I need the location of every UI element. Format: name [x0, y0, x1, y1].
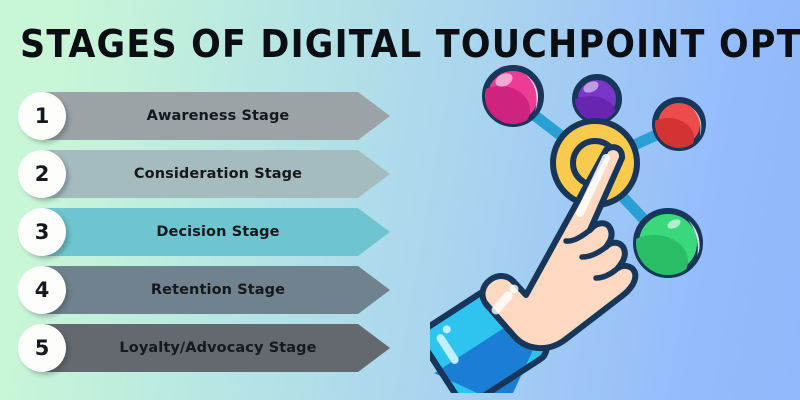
stage-row-4[interactable]: Retention Stage 4 — [18, 266, 390, 314]
hand-tapping-network-node-illustration — [430, 58, 730, 393]
stage-row-5[interactable]: Loyalty/Advocacy Stage 5 — [18, 324, 390, 372]
stage-number-2: 2 — [18, 150, 66, 198]
stage-arrow-1 — [40, 92, 390, 140]
stage-arrow-3 — [40, 208, 390, 256]
stage-list: Awareness Stage 1 Consideration Stage 2 … — [18, 92, 408, 382]
stage-number-3: 3 — [18, 208, 66, 256]
stage-row-3[interactable]: Decision Stage 3 — [18, 208, 390, 256]
node-red — [642, 100, 703, 158]
stage-number-1: 1 — [18, 92, 66, 140]
stage-arrow-4 — [40, 266, 390, 314]
stage-number-5: 5 — [18, 324, 66, 372]
stage-arrow-5 — [40, 324, 390, 372]
stage-row-1[interactable]: Awareness Stage 1 — [18, 92, 390, 140]
stage-row-2[interactable]: Consideration Stage 2 — [18, 150, 390, 198]
node-pink — [470, 68, 541, 134]
infographic-canvas: STAGES OF DIGITAL TOUCHPOINT OPTIMIZATIO… — [0, 0, 800, 400]
stage-arrow-2 — [40, 150, 390, 198]
stage-number-4: 4 — [18, 266, 66, 314]
